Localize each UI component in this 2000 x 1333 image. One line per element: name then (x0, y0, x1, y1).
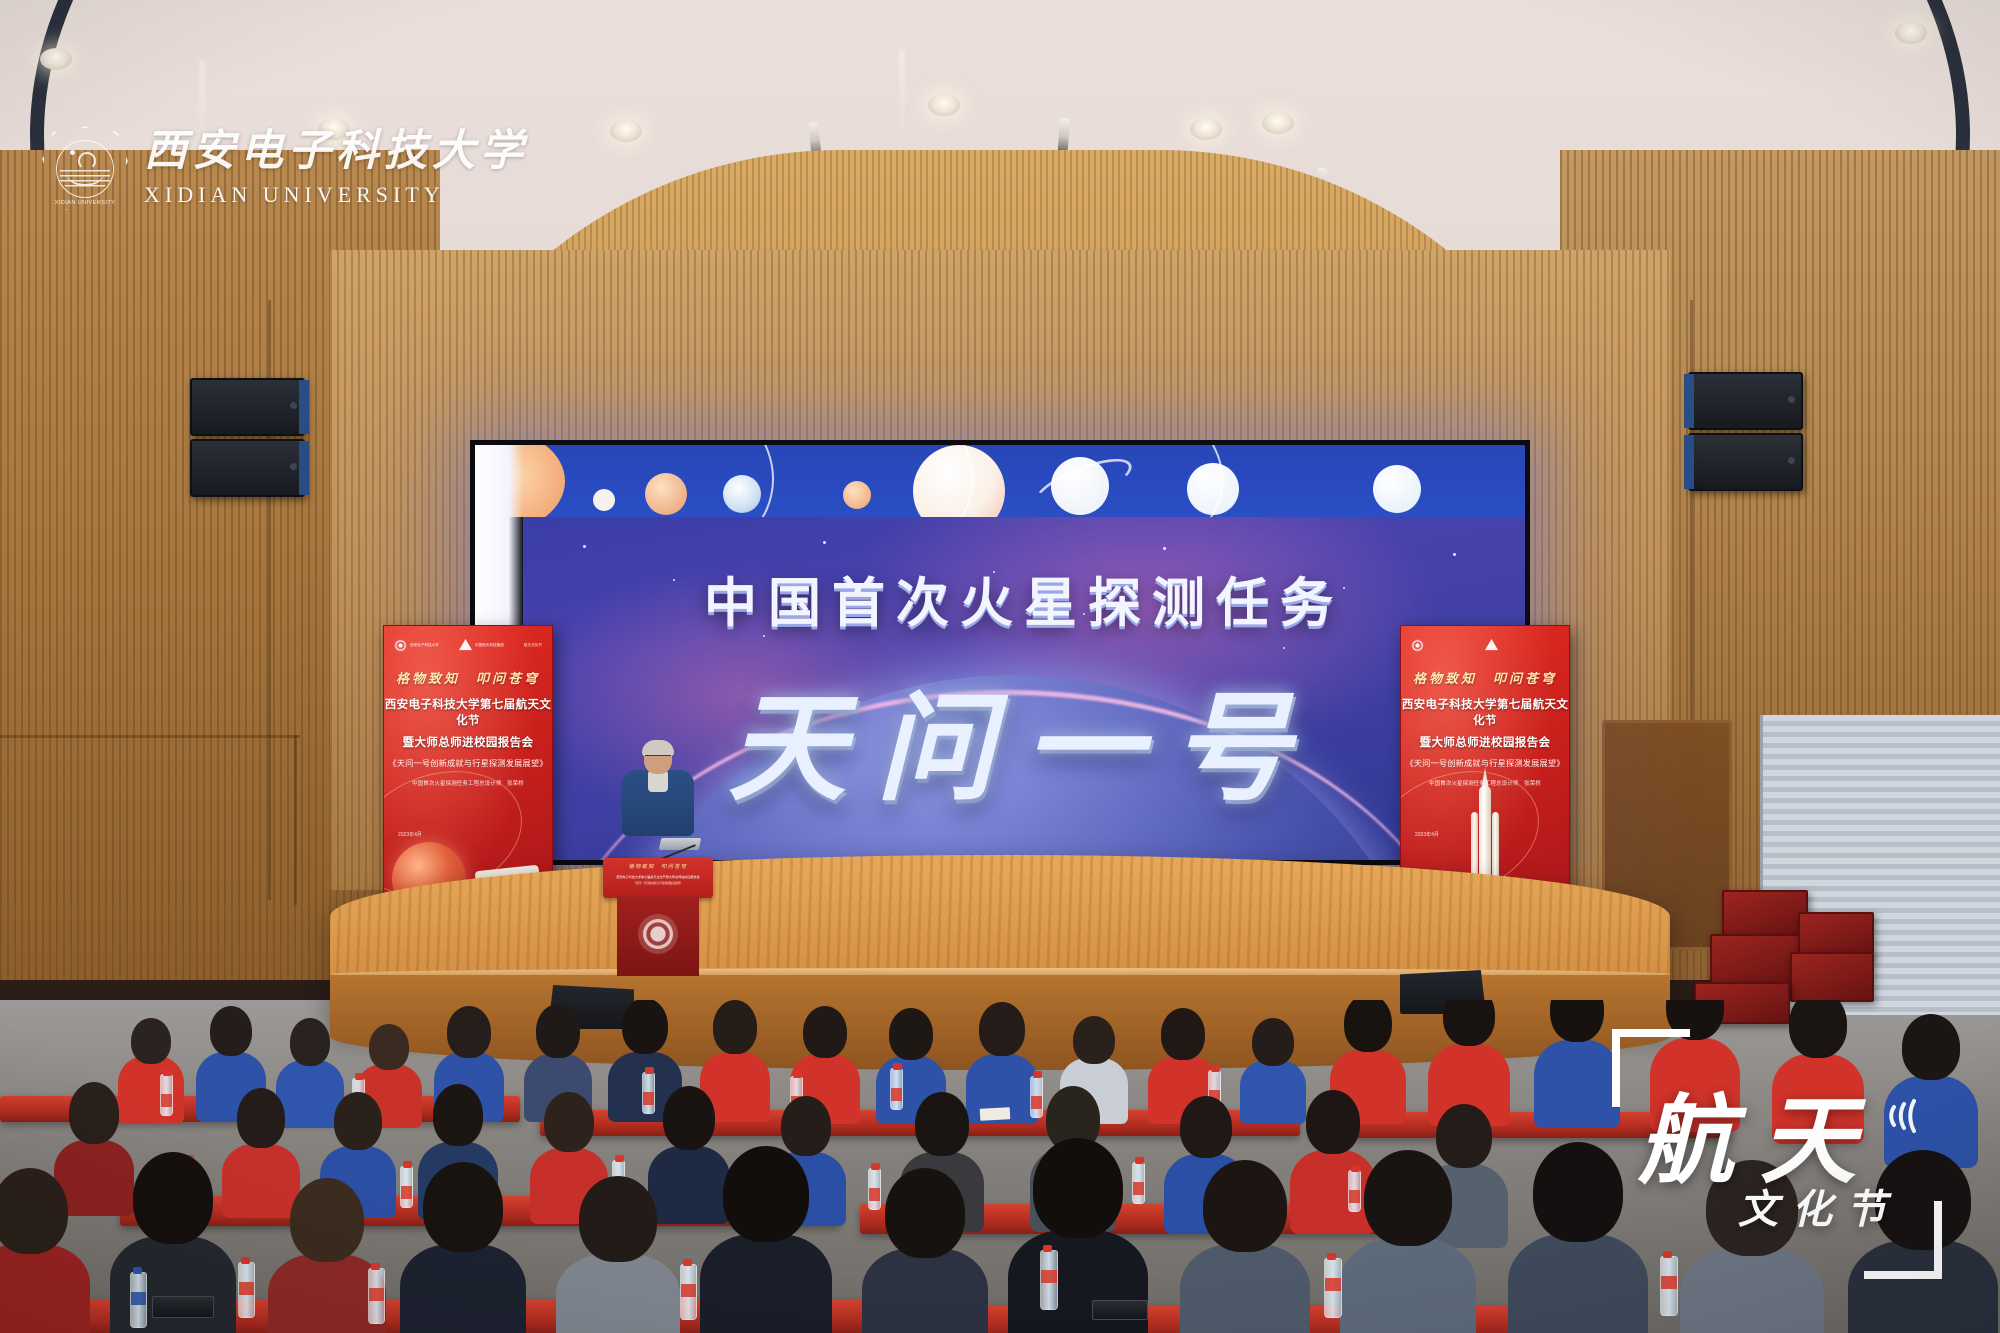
presenter-glasses-icon (645, 755, 671, 760)
ceiling-downlight (928, 94, 960, 116)
wall-panel-seam (0, 735, 300, 738)
audience-head (1033, 1138, 1123, 1238)
audience-head (979, 1002, 1025, 1056)
ceiling-downlight (1262, 112, 1294, 134)
xidian-seal-icon (1411, 639, 1424, 652)
audience-head (1364, 1150, 1452, 1246)
ceiling-downlight (1190, 118, 1222, 140)
tablet-device[interactable] (152, 1296, 214, 1318)
audience-area (0, 1000, 2000, 1333)
audience-head (237, 1088, 285, 1148)
audience-torso (400, 1244, 526, 1333)
photo-canvas: 中国首次火星探测任务 天问一号 西安电子科技大学 中国航天科技集团 航天文化节 … (0, 0, 2000, 1333)
audience-head (1344, 1000, 1392, 1052)
audience-member (0, 1168, 90, 1333)
audience-head (803, 1006, 847, 1058)
audience-head (447, 1006, 491, 1058)
line-array-speaker (1688, 433, 1803, 491)
standee-logo-row: 西安电子科技大学 中国航天科技集团 航天文化节 (384, 626, 552, 652)
audience-head (210, 1006, 252, 1056)
water-bottle (130, 1272, 147, 1328)
audience-head (889, 1008, 933, 1060)
audience-member (1772, 1000, 1864, 1140)
audience-head (369, 1024, 409, 1070)
tablet-device[interactable] (1092, 1300, 1148, 1320)
casc-logo-icon (1485, 639, 1498, 652)
audience-head (133, 1152, 213, 1244)
audience-member (700, 1146, 832, 1333)
water-bottle (160, 1074, 173, 1116)
audience-member (556, 1176, 680, 1333)
audience-head (723, 1146, 809, 1242)
line-array-speaker (190, 439, 305, 497)
audience-head (1902, 1014, 1960, 1080)
audience-head (1550, 1000, 1604, 1042)
water-bottle (368, 1268, 385, 1324)
audience-member (1340, 1150, 1476, 1333)
standee-line1: 西安电子科技大学第七届航天文化节 (1401, 696, 1569, 728)
audience-torso (110, 1236, 236, 1333)
audience-head (423, 1162, 503, 1252)
audience-head (1533, 1142, 1623, 1242)
water-bottle (238, 1262, 255, 1318)
audience-head (1706, 1160, 1798, 1256)
audience-member (1508, 1142, 1648, 1333)
podium-calligraphy: 格物致知 叩问苍穹 (603, 863, 713, 870)
audience-member (400, 1162, 526, 1333)
audience-head (290, 1178, 364, 1262)
audience-head (131, 1018, 171, 1064)
audience-head (1666, 1000, 1724, 1040)
audience-head (579, 1176, 657, 1262)
audience-head (1073, 1016, 1115, 1064)
presenter (618, 742, 698, 842)
audience-torso (700, 1234, 832, 1333)
audience-head (663, 1086, 715, 1150)
audience-torso (0, 1244, 90, 1333)
standee-line2: 暨大师总师进校园报告会 (384, 734, 552, 750)
audience-head (1180, 1096, 1232, 1158)
podium-front-sign: 格物致知 叩问苍穹 西安电子科技大学第七届航天文化节暨大师总师进校园报告会 《天… (603, 858, 713, 898)
audience-head (915, 1092, 969, 1156)
audience-member (862, 1168, 988, 1333)
equipment-crate (1722, 890, 1808, 938)
xidian-emblem-icon (638, 914, 678, 954)
audience-head (1306, 1090, 1360, 1154)
standee-line2: 暨大师总师进校园报告会 (1401, 734, 1569, 750)
handout-paper (980, 1107, 1011, 1121)
water-bottle (1040, 1250, 1058, 1310)
casc-logo-icon (459, 639, 472, 652)
water-bottle (1660, 1256, 1678, 1316)
ceiling-downlight (1895, 22, 1927, 44)
xidian-seal-icon (394, 639, 407, 652)
standee-logo-row: 西安电子科技大学第七届航天文化节 (1401, 626, 1569, 652)
standee-line1: 西安电子科技大学第七届航天文化节 (384, 696, 552, 728)
logo-xidian: 西安电子科技大学 (394, 639, 439, 652)
audience-head (1789, 1000, 1847, 1058)
line-array-speaker (1688, 372, 1803, 430)
podium: 格物致知 叩问苍穹 西安电子科技大学第七届航天文化节暨大师总师进校园报告会 《天… (603, 830, 713, 975)
audience-head (1443, 1000, 1495, 1046)
audience-head (334, 1092, 382, 1150)
wall-panel-seam (294, 735, 297, 905)
speaker-cluster-right (1688, 372, 1803, 494)
podium-column (617, 896, 699, 976)
audience-torso (556, 1254, 680, 1333)
orbit-path (983, 445, 1525, 517)
audience-torso (1650, 1038, 1740, 1132)
audience-member (1650, 1000, 1740, 1130)
logo-festival: 航天文化节 (524, 643, 542, 647)
audience-torso (1180, 1244, 1310, 1333)
logo-casc (1485, 639, 1498, 652)
audience-torso (1848, 1240, 1998, 1333)
audience-torso (862, 1248, 988, 1333)
screen-headline: 中国首次火星探测任务 (523, 561, 1525, 637)
ceiling-downlight (40, 48, 72, 70)
audience-head (1875, 1150, 1971, 1250)
spot-beam (200, 60, 204, 150)
equipment-crate (1710, 934, 1802, 986)
audience-member (1180, 1160, 1310, 1333)
audience-torso (1534, 1040, 1620, 1128)
audience-head (69, 1082, 119, 1144)
standee-line3: 《天问一号创新成就与行星探测发展展望》 (384, 757, 552, 769)
podium-line2: 《天问一号创新成就与行星探测发展展望》 (603, 881, 713, 885)
audience-head (536, 1004, 580, 1058)
audience-head (622, 1000, 668, 1054)
equipment-crate (1790, 952, 1874, 1002)
audience-member (1680, 1160, 1824, 1333)
speaker-cluster-left (190, 378, 305, 500)
water-bottle (680, 1264, 697, 1320)
standee-calligraphy: 格物致知 叩问苍穹 (1401, 668, 1569, 687)
screen-planet-band (475, 445, 1525, 517)
podium-line1: 西安电子科技大学第七届航天文化节暨大师总师进校园报告会 (603, 874, 713, 879)
water-bottle (1324, 1258, 1342, 1318)
ceiling-downlight (318, 118, 350, 140)
audience-head (1252, 1018, 1294, 1066)
audience-head (544, 1092, 594, 1152)
audience-member (1534, 1000, 1620, 1126)
audience-torso (1680, 1248, 1824, 1333)
ceiling-downlight (610, 120, 642, 142)
audience-member (1848, 1150, 1998, 1333)
logo-casc: 中国航天科技集团 (459, 639, 504, 652)
audience-head (1203, 1160, 1287, 1252)
audience-head (290, 1018, 330, 1066)
audience-head (433, 1084, 483, 1146)
audience-head (1161, 1008, 1205, 1060)
audience-head (0, 1168, 68, 1254)
audience-head (885, 1168, 965, 1258)
audience-torso (1508, 1234, 1648, 1333)
audience-torso (1340, 1238, 1476, 1333)
audience-member (1884, 1014, 1978, 1164)
line-array-speaker (190, 378, 305, 436)
presenter-hair (642, 740, 674, 756)
standee-calligraphy: 格物致知 叩问苍穹 (384, 668, 552, 687)
spot-beam (900, 50, 904, 140)
audience-head (713, 1000, 757, 1054)
audience-torso (1772, 1054, 1864, 1144)
logo-xidian: 西安电子科技大学第七届航天文化节 (1411, 639, 1424, 652)
